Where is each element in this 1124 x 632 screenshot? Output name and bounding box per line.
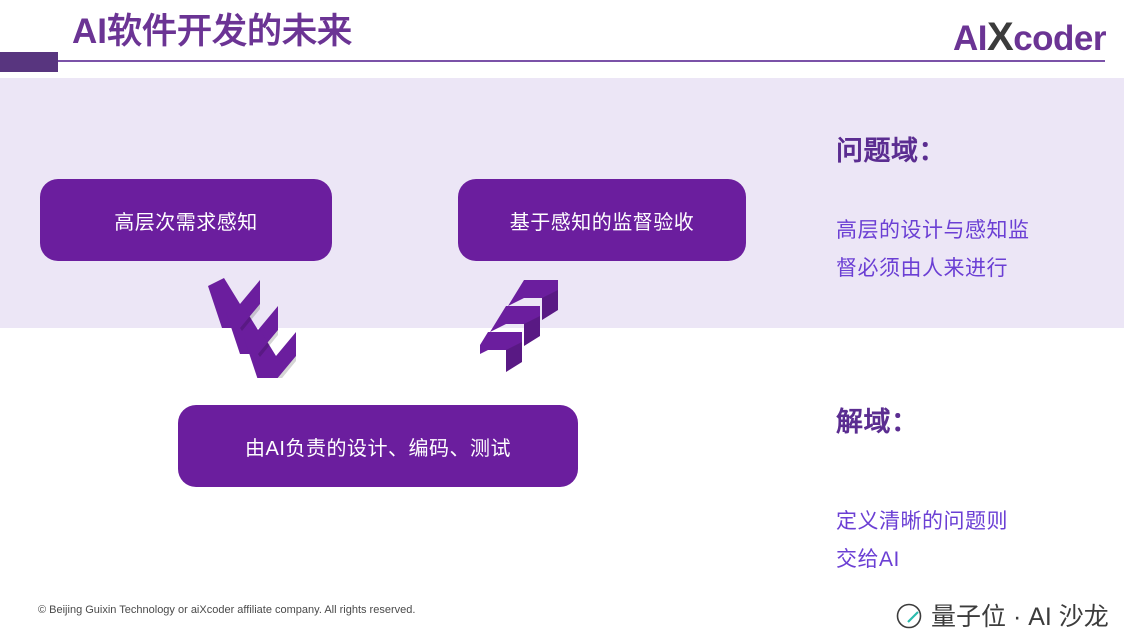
problem-domain-line-1: 高层的设计与感知监 [836,212,1086,250]
problem-domain-body: 高层的设计与感知监 督必须由人来进行 [836,212,1086,288]
chevron-up-arrow-icon [480,278,585,378]
process-box-ai-implementation[interactable]: 由AI负责的设计、编码、测试 [178,405,578,487]
process-box-high-level-demand[interactable]: 高层次需求感知 [40,179,332,261]
title-accent-bar [0,52,58,72]
solution-domain-heading: 解域： [836,400,919,439]
solution-domain-line-1: 定义清晰的问题则 [836,503,1086,541]
qbit-logo-text: 量子位 · AI 沙龙 [931,602,1109,632]
chevron-down-arrow-icon [200,278,305,378]
process-box-label: 高层次需求感知 [114,206,258,235]
problem-domain-line-2: 督必须由人来进行 [836,250,1086,288]
slide-header: AI软件开发的未来 AIXcoder [0,0,1124,78]
process-box-label: 由AI负责的设计、编码、测试 [245,432,511,461]
aixcoder-logo-x: X [987,15,1013,59]
problem-domain-heading: 问题域： [836,129,946,168]
process-box-supervised-acceptance[interactable]: 基于感知的监督验收 [458,179,746,261]
q-circle-icon [895,602,925,632]
aixcoder-logo: AIXcoder [953,17,1106,59]
solution-domain-line-2: 交给AI [836,541,1086,579]
process-box-label: 基于感知的监督验收 [510,206,695,235]
slide-canvas: AI软件开发的未来 AIXcoder 高层次需求感知 基于感知的监督验收 由AI… [0,0,1124,632]
copyright-notice: © Beijing Guixin Technology or aiXcoder … [38,604,415,616]
title-divider-rule [58,60,1105,62]
qbit-partner-logo: 量子位 · AI 沙龙 [895,602,1109,632]
page-title: AI软件开发的未来 [72,9,352,55]
solution-domain-body: 定义清晰的问题则 交给AI [836,503,1086,579]
aixcoder-logo-ai: AI [953,19,987,58]
aixcoder-logo-coder: coder [1013,19,1106,58]
